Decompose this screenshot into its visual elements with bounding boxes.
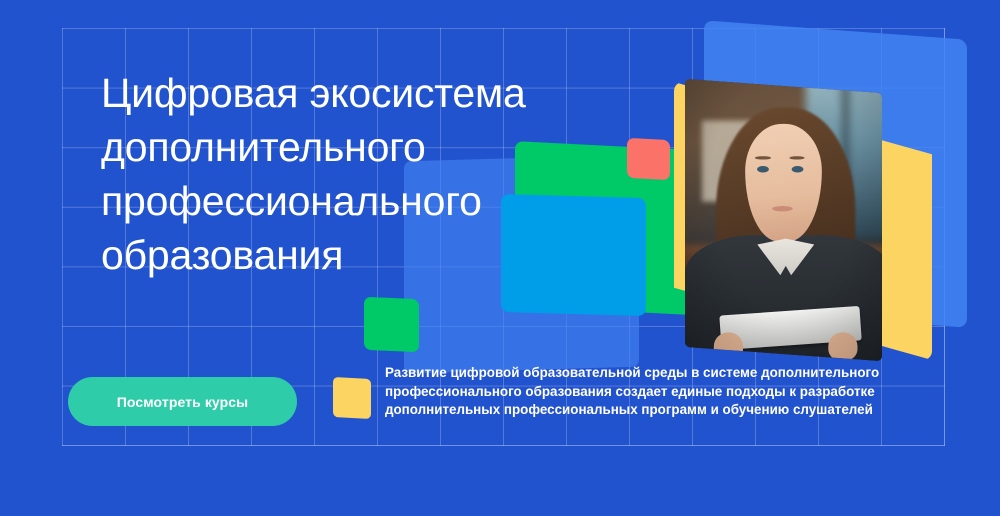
page-title: Цифровая экосистема дополнительного проф…	[101, 66, 671, 282]
hero-media-composition	[660, 24, 960, 364]
hero-description: Развитие цифровой образовательной среды …	[385, 364, 930, 420]
portrait-photo-inner	[685, 79, 882, 361]
hero-banner: Цифровая экосистема дополнительного проф…	[0, 0, 1000, 516]
portrait-photo	[685, 79, 882, 361]
view-courses-button[interactable]: Посмотреть курсы	[68, 377, 297, 426]
decor-shape-green-small	[364, 297, 419, 352]
portrait-vignette	[685, 79, 882, 361]
decor-shape-yellow-small	[333, 377, 371, 419]
